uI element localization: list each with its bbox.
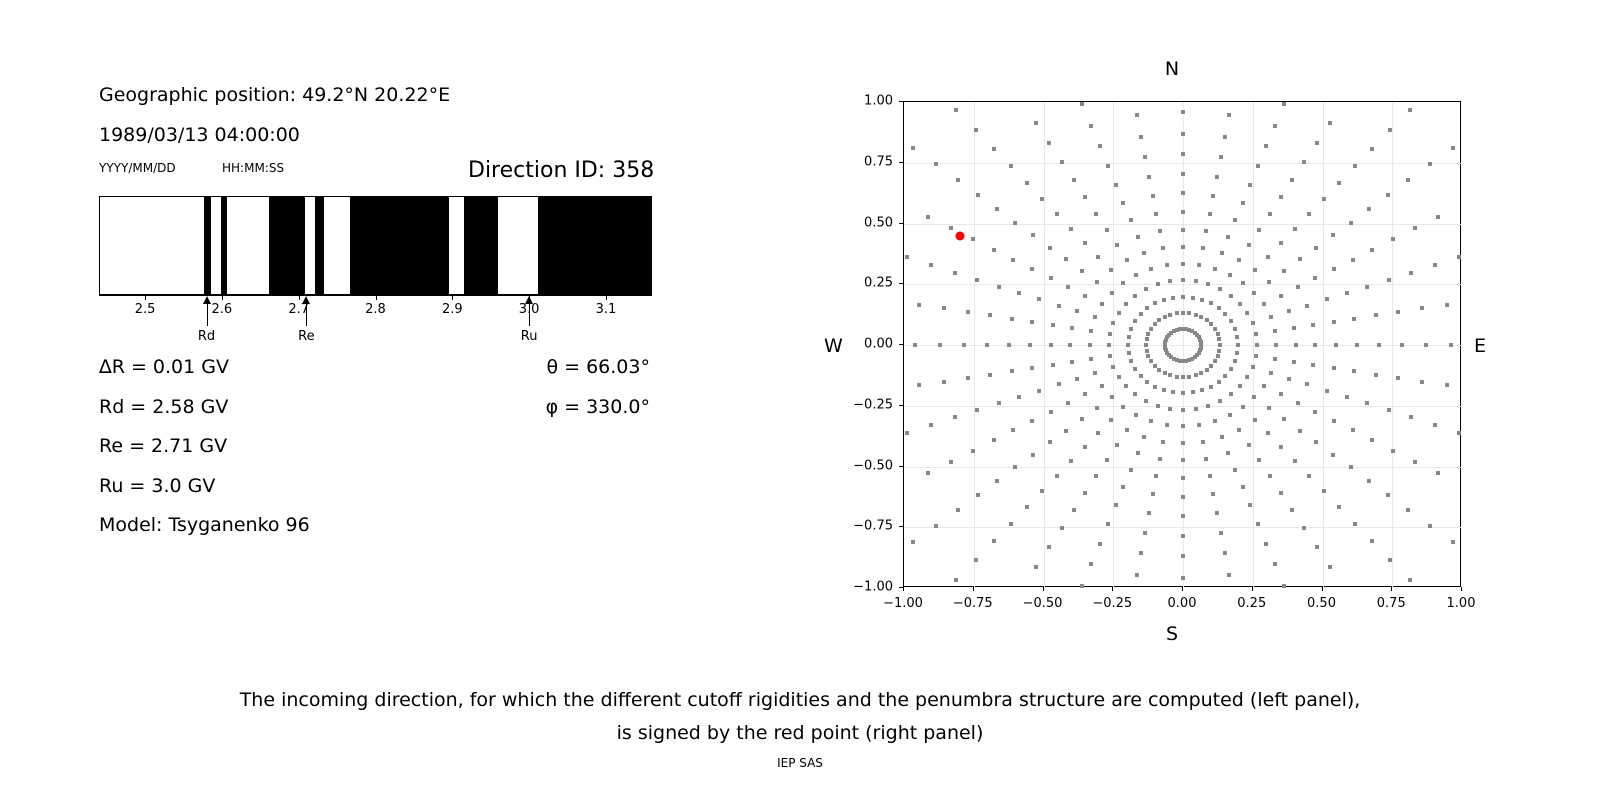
- direction-point: [1328, 121, 1332, 125]
- direction-point: [934, 524, 938, 528]
- direction-point: [992, 438, 996, 442]
- direction-point: [1200, 388, 1204, 392]
- direction-point: [1147, 175, 1151, 179]
- direction-point: [975, 278, 979, 282]
- direction-point: [1168, 373, 1172, 377]
- direction-point: [1217, 306, 1221, 310]
- direction-point: [1266, 431, 1270, 435]
- direction-point: [1433, 263, 1437, 267]
- direction-point: [1125, 258, 1129, 262]
- sky-y-tick-label: 0.25: [841, 276, 893, 291]
- direction-point: [1124, 302, 1128, 306]
- direction-point: [953, 415, 957, 419]
- direction-point: [985, 343, 989, 347]
- direction-point: [1228, 413, 1232, 417]
- direction-point: [1088, 343, 1092, 347]
- direction-point: [1144, 287, 1148, 291]
- direction-point: [1307, 474, 1311, 478]
- direction-point: [1199, 315, 1203, 319]
- direction-point: [1069, 459, 1073, 463]
- direction-point: [1233, 468, 1237, 472]
- direction-point: [1181, 408, 1185, 412]
- sky-x-tick-label: 0.50: [1307, 596, 1336, 611]
- sky-y-tick-label: 0.75: [841, 154, 893, 169]
- direction-point: [1072, 178, 1076, 182]
- direction-point: [1181, 534, 1185, 538]
- direction-point: [1093, 371, 1097, 375]
- direction-point: [1133, 392, 1137, 396]
- direction-point: [1345, 291, 1349, 295]
- sky-map-panel: −1.00−0.75−0.50−0.250.000.250.500.751.00…: [0, 0, 1600, 660]
- direction-point: [1080, 417, 1084, 421]
- direction-point: [1267, 280, 1271, 284]
- direction-point: [911, 146, 915, 150]
- direction-point: [1314, 440, 1318, 444]
- direction-point: [1049, 343, 1053, 347]
- direction-point: [1396, 310, 1400, 314]
- direction-point: [1153, 322, 1157, 326]
- direction-point: [1332, 419, 1336, 423]
- direction-point: [1204, 229, 1208, 233]
- direction-point: [1083, 392, 1087, 396]
- sky-x-tick-label: 0.00: [1168, 596, 1197, 611]
- direction-point: [1290, 178, 1294, 182]
- direction-point: [1451, 540, 1455, 544]
- direction-point: [1149, 327, 1153, 331]
- direction-point: [1208, 474, 1212, 478]
- direction-point: [1387, 408, 1391, 412]
- gridline-horizontal: [904, 224, 1462, 225]
- direction-point: [1060, 526, 1064, 530]
- direction-point: [1025, 181, 1029, 185]
- direction-point: [1144, 399, 1148, 403]
- direction-point: [913, 343, 917, 347]
- direction-point: [1100, 302, 1104, 306]
- direction-point: [1013, 221, 1017, 225]
- direction-point: [1262, 302, 1266, 306]
- direction-point: [1163, 315, 1167, 319]
- direction-point: [1181, 172, 1185, 176]
- direction-point: [905, 255, 909, 259]
- direction-point: [1111, 321, 1115, 325]
- direction-point: [1117, 311, 1121, 315]
- direction-point: [1011, 258, 1015, 262]
- sky-x-tick-label: 0.25: [1237, 596, 1266, 611]
- direction-point: [1264, 144, 1268, 148]
- direction-point: [1233, 359, 1237, 363]
- direction-point: [1089, 124, 1093, 128]
- sky-x-tick: [1461, 587, 1462, 591]
- compass-west-label: W: [824, 335, 843, 357]
- direction-point: [1070, 360, 1074, 364]
- direction-point: [1314, 246, 1318, 250]
- direction-point: [1109, 418, 1113, 422]
- direction-point: [1162, 388, 1166, 392]
- direction-point: [1197, 263, 1201, 267]
- direction-point: [1229, 294, 1233, 298]
- direction-point: [1093, 315, 1097, 319]
- direction-point: [1279, 294, 1283, 298]
- direction-point: [1153, 385, 1157, 389]
- direction-point: [1153, 301, 1157, 305]
- direction-point: [1194, 407, 1198, 411]
- direction-point: [1121, 201, 1125, 205]
- direction-point: [971, 449, 975, 453]
- direction-point: [1030, 267, 1034, 271]
- direction-point: [1337, 181, 1341, 185]
- direction-point: [1191, 390, 1195, 394]
- direction-point: [1047, 141, 1051, 145]
- sky-y-tick-label: −0.25: [841, 397, 893, 412]
- direction-point: [1313, 343, 1317, 347]
- direction-point: [1200, 298, 1204, 302]
- direction-point: [1089, 329, 1093, 333]
- direction-point: [1129, 359, 1133, 363]
- sky-x-tick: [1043, 587, 1044, 591]
- direction-point: [1268, 212, 1272, 216]
- direction-point: [1420, 380, 1424, 384]
- direction-point: [1204, 457, 1208, 461]
- direction-point: [1055, 474, 1059, 478]
- direction-point: [1217, 349, 1221, 353]
- direction-point: [1223, 551, 1227, 555]
- direction-point: [1075, 309, 1079, 313]
- direction-point: [905, 431, 909, 435]
- direction-point: [1009, 522, 1013, 526]
- direction-point: [1215, 511, 1219, 515]
- direction-point: [995, 479, 999, 483]
- direction-point: [1094, 212, 1098, 216]
- direction-point: [1248, 503, 1252, 507]
- direction-point: [1305, 304, 1309, 308]
- direction-point: [1034, 121, 1038, 125]
- direction-point: [1296, 401, 1300, 405]
- direction-point: [1057, 382, 1061, 386]
- direction-point: [1007, 343, 1011, 347]
- direction-point: [1139, 135, 1143, 139]
- direction-point: [1051, 323, 1055, 327]
- sky-x-tick-label: −0.25: [1092, 596, 1132, 611]
- compass-south-label: S: [1166, 623, 1178, 645]
- direction-point: [1388, 558, 1392, 562]
- direction-point: [1135, 573, 1139, 577]
- direction-point: [1254, 332, 1258, 336]
- direction-point: [1108, 354, 1112, 358]
- direction-point: [1273, 329, 1277, 333]
- direction-point: [1010, 369, 1014, 373]
- selected-direction-point[interactable]: [955, 231, 964, 240]
- direction-point: [1269, 371, 1273, 375]
- direction-point: [956, 508, 960, 512]
- direction-point: [1209, 364, 1213, 368]
- direction-point: [1209, 322, 1213, 326]
- direction-point: [1406, 178, 1410, 182]
- direction-point: [1114, 503, 1118, 507]
- sky-y-tick-label: −0.50: [841, 458, 893, 473]
- direction-point: [1256, 522, 1260, 526]
- direction-point: [1282, 269, 1286, 273]
- direction-point: [1142, 435, 1146, 439]
- direction-point: [1181, 514, 1185, 518]
- direction-point: [1111, 365, 1115, 369]
- direction-point: [1219, 531, 1223, 535]
- direction-point: [1048, 440, 1052, 444]
- direction-point: [1149, 267, 1153, 271]
- direction-point: [1237, 258, 1241, 262]
- sky-x-tick-label: 0.75: [1377, 596, 1406, 611]
- direction-point: [1229, 367, 1233, 371]
- direction-point: [1139, 551, 1143, 555]
- direction-point: [1445, 383, 1449, 387]
- gridline-horizontal: [904, 284, 1462, 285]
- direction-point: [1057, 304, 1061, 308]
- direction-point: [1040, 489, 1044, 493]
- direction-point: [1040, 197, 1044, 201]
- direction-point: [1048, 246, 1052, 250]
- direction-point: [1161, 440, 1165, 444]
- sky-y-tick-label: −0.75: [841, 519, 893, 534]
- direction-point: [949, 226, 953, 230]
- direction-point: [1241, 405, 1245, 409]
- direction-point: [1106, 522, 1110, 526]
- direction-point: [917, 383, 921, 387]
- direction-point: [1031, 233, 1035, 237]
- direction-point: [1145, 380, 1149, 384]
- direction-point: [1302, 160, 1306, 164]
- sky-x-tick: [1112, 587, 1113, 591]
- direction-point: [1143, 155, 1147, 159]
- direction-point: [1219, 155, 1223, 159]
- direction-point: [1273, 357, 1277, 361]
- direction-point: [1178, 327, 1182, 331]
- direction-point: [1083, 445, 1087, 449]
- direction-point: [1162, 298, 1166, 302]
- direction-point: [1218, 287, 1222, 291]
- direction-point: [1011, 428, 1015, 432]
- direction-point: [1233, 327, 1237, 331]
- direction-point: [1245, 375, 1249, 379]
- direction-point: [1072, 508, 1076, 512]
- direction-point: [1217, 337, 1221, 341]
- direction-point: [1211, 194, 1215, 198]
- direction-point: [976, 493, 980, 497]
- direction-point: [1209, 385, 1213, 389]
- direction-point: [1145, 337, 1149, 341]
- direction-point: [1171, 390, 1175, 394]
- direction-point: [1145, 349, 1149, 353]
- direction-point: [1256, 164, 1260, 168]
- sky-map-plot-area: [903, 101, 1461, 587]
- direction-point: [1211, 492, 1215, 496]
- direction-point: [1351, 258, 1355, 262]
- direction-point: [1136, 451, 1140, 455]
- direction-point: [1168, 313, 1172, 317]
- direction-point: [1238, 384, 1242, 388]
- direction-point: [942, 380, 946, 384]
- sky-x-tick: [1322, 587, 1323, 591]
- direction-point: [1377, 343, 1381, 347]
- direction-point: [1066, 401, 1070, 405]
- direction-point: [1025, 505, 1029, 509]
- direction-point: [1305, 382, 1309, 386]
- direction-point: [1331, 233, 1335, 237]
- sky-y-tick-label: −1.00: [841, 580, 893, 595]
- direction-point: [1313, 276, 1317, 280]
- direction-point: [1165, 263, 1169, 267]
- direction-point: [1083, 294, 1087, 298]
- direction-point: [1181, 262, 1185, 266]
- direction-point: [1332, 366, 1336, 370]
- direction-point: [1293, 459, 1297, 463]
- direction-point: [1181, 476, 1185, 480]
- direction-point: [1253, 268, 1257, 272]
- direction-point: [1293, 227, 1297, 231]
- direction-point: [1149, 419, 1153, 423]
- direction-point: [929, 423, 933, 427]
- direction-point: [1266, 255, 1270, 259]
- direction-point: [1133, 294, 1137, 298]
- direction-point: [1134, 413, 1138, 417]
- direction-point: [926, 215, 930, 219]
- direction-point: [1227, 573, 1231, 577]
- direction-point: [1223, 135, 1227, 139]
- direction-point: [1080, 102, 1084, 106]
- direction-point: [1254, 354, 1258, 358]
- direction-point: [1332, 267, 1336, 271]
- caption-line-1: The incoming direction, for which the di…: [0, 684, 1600, 717]
- sky-x-tick-label: 1.00: [1447, 596, 1476, 611]
- direction-point: [1279, 392, 1283, 396]
- sky-y-tick: [899, 466, 903, 467]
- direction-point: [917, 303, 921, 307]
- direction-point: [1279, 195, 1283, 199]
- direction-point: [997, 285, 1001, 289]
- direction-point: [1311, 363, 1315, 367]
- direction-point: [1226, 235, 1230, 239]
- direction-point: [1124, 384, 1128, 388]
- direction-point: [1213, 359, 1217, 363]
- direction-point: [911, 540, 915, 544]
- direction-point: [1127, 351, 1131, 355]
- direction-point: [1255, 343, 1259, 347]
- direction-point: [1296, 285, 1300, 289]
- sky-x-tick-label: −0.50: [1023, 596, 1063, 611]
- direction-point: [1257, 458, 1261, 462]
- sky-y-tick: [899, 162, 903, 163]
- direction-point: [974, 128, 978, 132]
- direction-point: [1367, 479, 1371, 483]
- direction-point: [1349, 221, 1353, 225]
- direction-point: [1337, 505, 1341, 509]
- sky-x-tick: [973, 587, 974, 591]
- direction-point: [1268, 474, 1272, 478]
- direction-point: [1282, 102, 1286, 106]
- sky-x-tick: [1252, 587, 1253, 591]
- direction-point: [1457, 431, 1461, 435]
- direction-point: [1370, 539, 1374, 543]
- direction-point: [1199, 371, 1203, 375]
- direction-point: [1302, 526, 1306, 530]
- direction-point: [1331, 453, 1335, 457]
- direction-point: [1151, 492, 1155, 496]
- direction-point: [1298, 429, 1302, 433]
- direction-point: [1051, 363, 1055, 367]
- direction-point: [1257, 228, 1261, 232]
- direction-point: [1108, 332, 1112, 336]
- direction-point: [1287, 377, 1291, 381]
- direction-point: [974, 558, 978, 562]
- direction-point: [1279, 241, 1283, 245]
- compass-north-label: N: [1165, 58, 1179, 80]
- direction-point: [1252, 395, 1256, 399]
- direction-point: [1273, 562, 1277, 566]
- direction-point: [1055, 212, 1059, 216]
- direction-point: [956, 178, 960, 182]
- direction-point: [1413, 226, 1417, 230]
- direction-point: [1351, 428, 1355, 432]
- direction-point: [1030, 320, 1034, 324]
- direction-point: [1248, 183, 1252, 187]
- direction-point: [938, 343, 942, 347]
- direction-point: [1311, 323, 1315, 327]
- direction-point: [1121, 485, 1125, 489]
- direction-point: [1408, 108, 1412, 112]
- direction-point: [1345, 395, 1349, 399]
- direction-point: [1121, 281, 1125, 285]
- direction-point: [1216, 354, 1220, 358]
- direction-point: [1315, 141, 1319, 145]
- gridline-horizontal: [904, 163, 1462, 164]
- direction-point: [1451, 146, 1455, 150]
- direction-point: [1406, 508, 1410, 512]
- direction-point: [1325, 297, 1329, 301]
- direction-point: [1117, 375, 1121, 379]
- direction-point: [1075, 377, 1079, 381]
- direction-point: [1420, 306, 1424, 310]
- direction-point: [1191, 296, 1195, 300]
- sky-y-tick: [899, 283, 903, 284]
- direction-point: [1017, 291, 1021, 295]
- sky-x-tick-label: −0.75: [953, 596, 993, 611]
- direction-point: [1095, 280, 1099, 284]
- direction-point: [1134, 273, 1138, 277]
- direction-point: [1187, 375, 1191, 379]
- direction-point: [1031, 453, 1035, 457]
- direction-point: [1168, 279, 1172, 283]
- direction-point: [1279, 445, 1283, 449]
- direction-point: [1322, 197, 1326, 201]
- direction-point: [1066, 285, 1070, 289]
- direction-point: [1206, 282, 1210, 286]
- direction-point: [1396, 376, 1400, 380]
- direction-point: [1009, 164, 1013, 168]
- direction-point: [1386, 193, 1390, 197]
- direction-point: [1273, 124, 1277, 128]
- direction-point: [1352, 317, 1356, 321]
- direction-point: [1145, 306, 1149, 310]
- direction-point: [988, 313, 992, 317]
- direction-point: [1247, 243, 1251, 247]
- sky-y-tick: [899, 344, 903, 345]
- direction-point: [953, 271, 957, 275]
- direction-point: [1216, 332, 1220, 336]
- direction-point: [1163, 371, 1167, 375]
- direction-point: [1089, 562, 1093, 566]
- direction-point: [1080, 269, 1084, 273]
- direction-point: [1181, 132, 1185, 136]
- direction-point: [1201, 440, 1205, 444]
- direction-point: [1322, 489, 1326, 493]
